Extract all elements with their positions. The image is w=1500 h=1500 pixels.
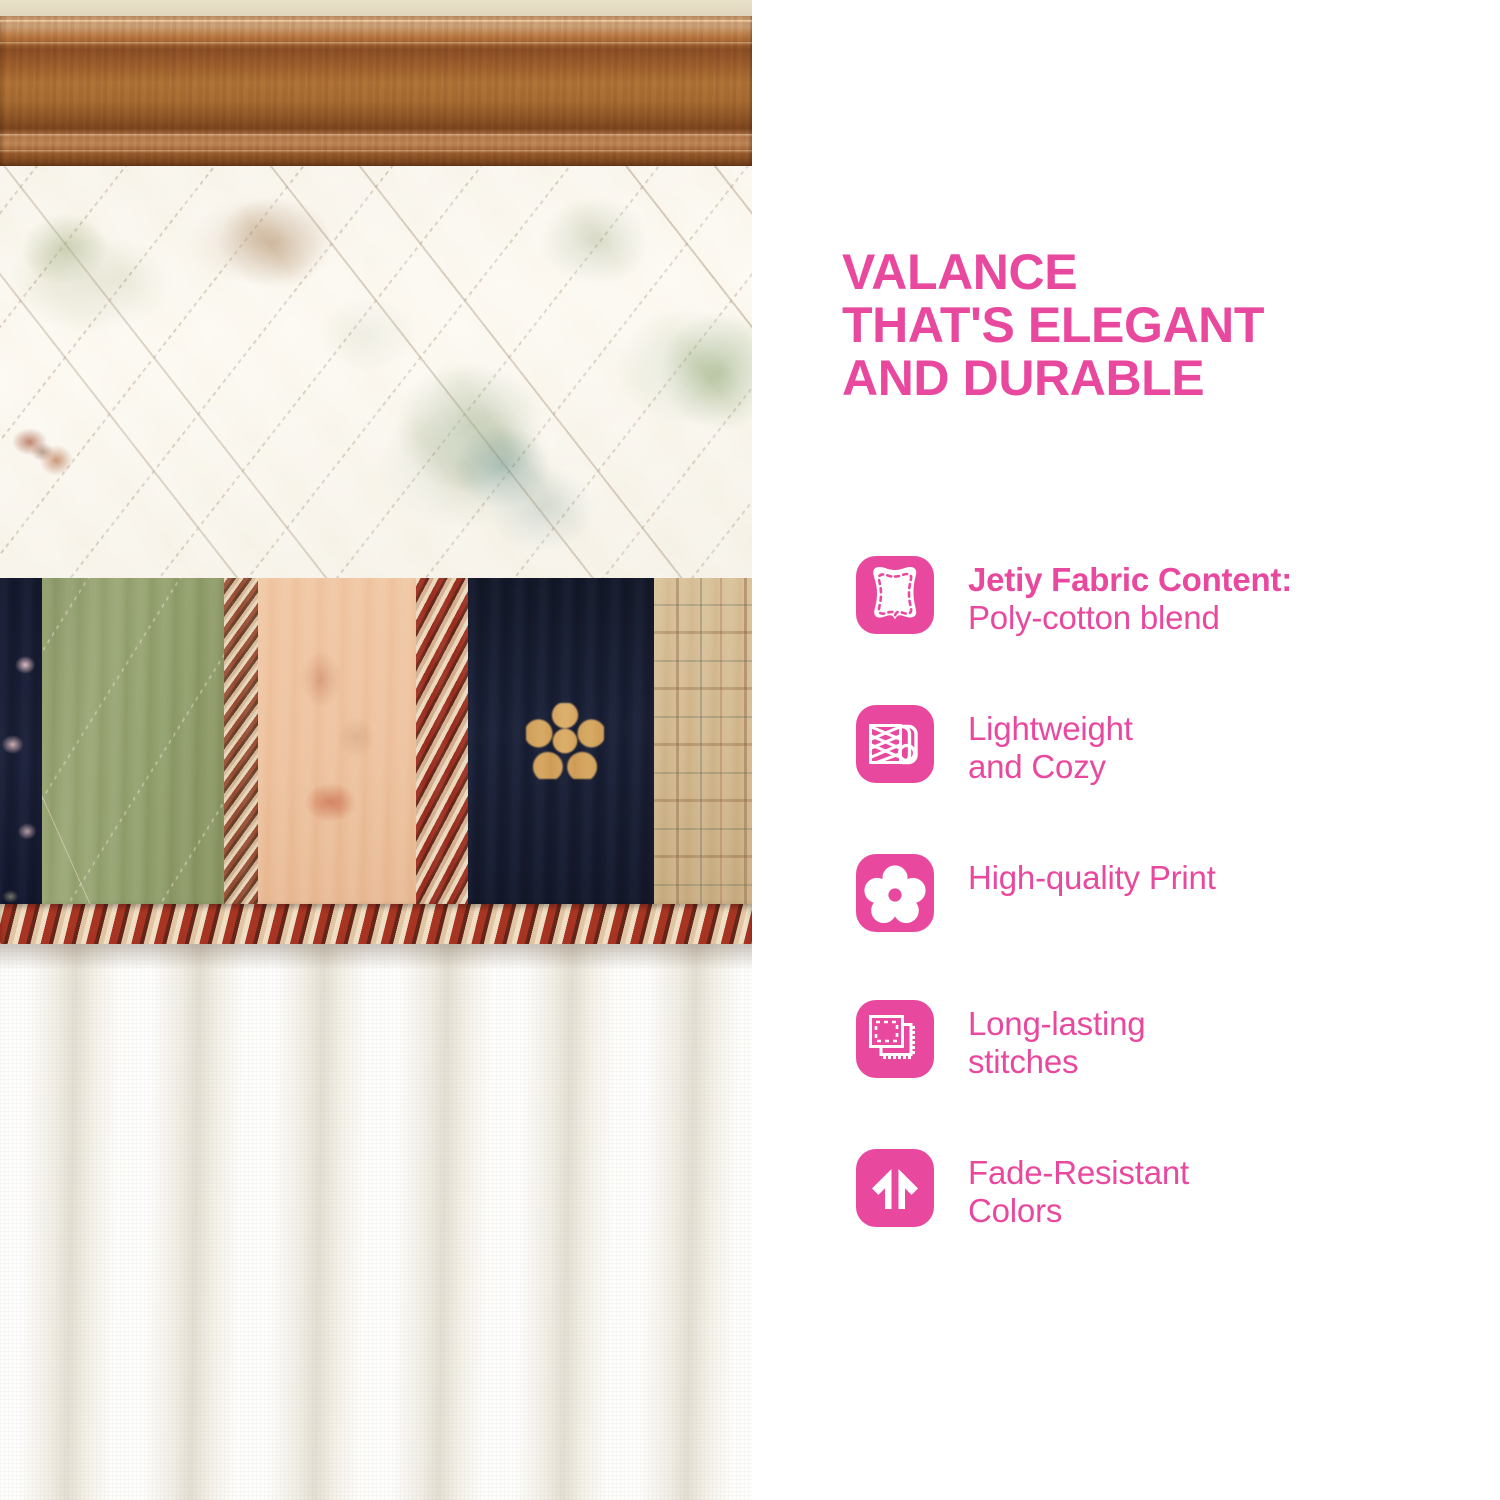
feature-text: Long-lasting stitches — [968, 1000, 1145, 1081]
product-photo — [0, 0, 752, 1500]
patch-navy-floral — [0, 578, 42, 940]
butterfly-motif — [8, 422, 86, 484]
feature-label: Jetiy Fabric Content: — [968, 561, 1292, 599]
feature-label: High-quality Print — [968, 859, 1216, 897]
floral-sprig — [215, 194, 335, 290]
double-up-arrow-icon — [856, 1149, 934, 1227]
feature-text: Lightweight and Cozy — [968, 705, 1133, 786]
floral-sprig — [540, 196, 650, 286]
feature-item-stitches: Long-lasting stitches — [856, 1000, 1476, 1081]
feature-text: Jetiy Fabric Content: Poly-cotton blend — [968, 556, 1292, 637]
quilted-cream-panel — [0, 166, 752, 584]
feature-item-lightweight: Lightweight and Cozy — [856, 705, 1476, 786]
red-floral-binding — [0, 904, 752, 948]
fabric-swatch-stack-icon — [856, 1000, 934, 1078]
feature-label: Long-lasting stitches — [968, 1005, 1145, 1081]
fabric-roll-icon — [856, 705, 934, 783]
feature-item-fade-resistant: Fade-Resistant Colors — [856, 1149, 1476, 1230]
page-title: VALANCE THAT'S ELEGANT AND DURABLE — [842, 246, 1462, 405]
patch-peach-floral — [258, 578, 416, 940]
feature-item-fabric-content: Jetiy Fabric Content: Poly-cotton blend — [856, 556, 1476, 637]
patch-red-floral-trim — [416, 578, 468, 940]
feature-label: Lightweight and Cozy — [968, 710, 1133, 786]
feature-label: Fade-Resistant Colors — [968, 1154, 1189, 1230]
curtain-shadow — [0, 944, 752, 970]
headline-line-1: VALANCE — [842, 246, 1462, 299]
headline-line-3: AND DURABLE — [842, 352, 1462, 405]
patch-tan-plaid — [654, 578, 752, 940]
flower-icon — [856, 854, 934, 932]
floral-sprig — [660, 312, 752, 432]
feature-content-panel: VALANCE THAT'S ELEGANT AND DURABLE Jetiy… — [752, 0, 1500, 1500]
floral-sprig — [452, 424, 552, 510]
wooden-cornice — [0, 16, 752, 168]
feature-list: Jetiy Fabric Content: Poly-cotton blend — [856, 556, 1476, 1230]
feature-value: Poly-cotton blend — [968, 599, 1292, 637]
leather-hide-icon — [856, 556, 934, 634]
floral-sprig — [395, 362, 545, 492]
feature-text: Fade-Resistant Colors — [968, 1149, 1189, 1230]
headline-line-2: THAT'S ELEGANT — [842, 299, 1462, 352]
floral-sprig — [20, 212, 110, 286]
quilt-stitching — [42, 578, 224, 940]
patchwork-band — [0, 578, 752, 940]
patch-navy-gold-flower — [468, 578, 654, 940]
patch-floral-trim-narrow — [224, 578, 258, 940]
patch-sage-green — [42, 578, 224, 940]
gold-flower-motif — [526, 703, 604, 779]
product-feature-graphic: VALANCE THAT'S ELEGANT AND DURABLE Jetiy… — [0, 0, 1500, 1500]
sheer-curtain — [0, 944, 752, 1500]
feature-item-print: High-quality Print — [856, 854, 1476, 932]
feature-text: High-quality Print — [968, 854, 1216, 897]
